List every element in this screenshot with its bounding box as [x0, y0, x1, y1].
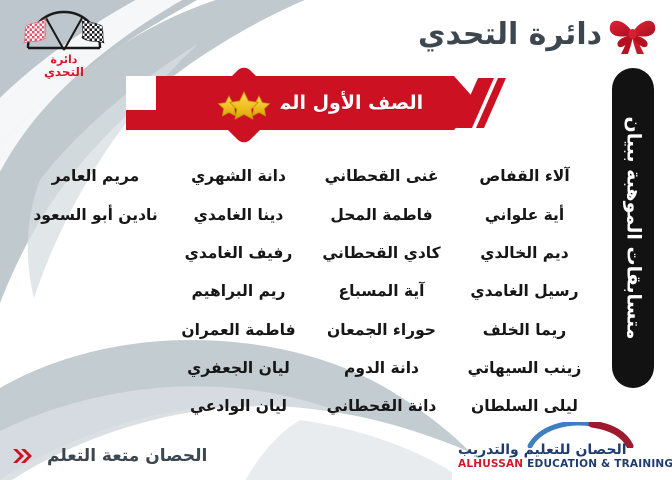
participant-name: دانة الدوم [310, 349, 453, 387]
alhussan-brand-rest: EDUCATION & TRAINING [523, 458, 672, 470]
names-column-4: آلاء القفاص أية علواني ديم الخالدي رسيل … [453, 158, 596, 426]
alhussan-brand-word: ALHUSSAN [458, 458, 523, 470]
red-ribbon-bow-icon [608, 12, 658, 56]
participant-name: آية المسباع [310, 273, 453, 311]
vertical-badge: متسابقات الموهبة ببيان [612, 68, 654, 388]
double-chevron-left-icon [12, 448, 38, 464]
participant-name: أية علواني [453, 196, 596, 234]
participant-name: مريم العامر [24, 158, 167, 196]
participant-name: غنى القحطاني [310, 158, 453, 196]
alhussan-arabic-name: الحصان للتعليم والتدريب [458, 442, 658, 458]
participant-name: ليان الوادعي [167, 388, 310, 426]
participant-name: رفيف الغامدي [167, 235, 310, 273]
participant-name: دانة القحطاني [310, 388, 453, 426]
crossed-checkered-flags-icon [12, 6, 116, 60]
participant-name: دانة الشهري [167, 158, 310, 196]
three-gold-stars-icon [204, 65, 284, 145]
participant-name: رسيل الغامدي [453, 273, 596, 311]
participant-name: ليان الجعفري [167, 349, 310, 387]
participant-name: ليلى السلطان [453, 388, 596, 426]
participant-name: آلاء القفاص [453, 158, 596, 196]
participant-name: كادي القحطاني [310, 235, 453, 273]
logo-wordmark: دائرة التحدي [12, 54, 116, 78]
participant-name: فاطمة العمران [167, 311, 310, 349]
page-title: دائرة التحدي [418, 18, 602, 51]
participant-name: زينب السيهاتي [453, 349, 596, 387]
footer-tagline-group: الحصان متعة التعلم [12, 446, 207, 466]
participant-name: ريم البراهيم [167, 273, 310, 311]
alhussan-logo: الحصان للتعليم والتدريب ALHUSSAN EDUCATI… [454, 424, 662, 472]
names-column-1: مريم العامر نادين أبو السعود [24, 158, 167, 426]
participant-name: ديم الخالدي [453, 235, 596, 273]
participants-grid: آلاء القفاص أية علواني ديم الخالدي رسيل … [24, 158, 596, 426]
logo-line-2: التحدي [12, 66, 116, 79]
poster-canvas: دائرة التحدي دائرة التحدي [0, 0, 672, 480]
names-column-2: دانة الشهري دينا الغامدي رفيف الغامدي ري… [167, 158, 310, 426]
footer-tagline: الحصان متعة التعلم [47, 446, 207, 466]
participant-name: حوراء الجمعان [310, 311, 453, 349]
names-column-3: غنى القحطاني فاطمة المحل كادي القحطاني آ… [310, 158, 453, 426]
participant-name: نادين أبو السعود [24, 196, 167, 234]
challenge-circle-logo: دائرة التحدي [12, 6, 116, 84]
participant-name: دينا الغامدي [167, 196, 310, 234]
participant-name: ريما الخلف [453, 311, 596, 349]
alhussan-english-name: ALHUSSAN EDUCATION & TRAINING [458, 458, 658, 470]
page-header: دائرة التحدي [418, 6, 658, 62]
participant-name: فاطمة المحل [310, 196, 453, 234]
vertical-badge-label: متسابقات الموهبة ببيان [622, 117, 644, 340]
